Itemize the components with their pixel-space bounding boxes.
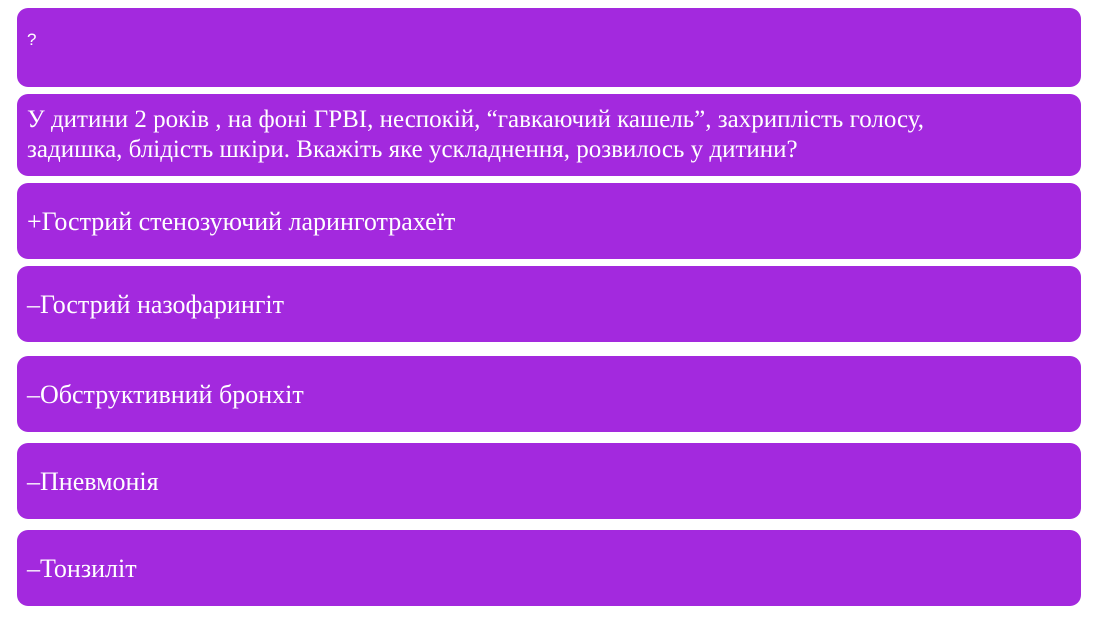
question-text: У дитини 2 років , на фоні ГРВІ, неспокі… bbox=[27, 105, 1071, 165]
answer-option-3[interactable]: –Обструктивний бронхіт bbox=[17, 356, 1081, 432]
answer-option-4-label: –Пневмонія bbox=[27, 467, 1071, 497]
prompt-marker-text: ? bbox=[27, 30, 1071, 50]
answer-option-1-label: +Гострий стенозуючий ларинготрахеїт bbox=[27, 207, 1071, 237]
answer-option-2-label: –Гострий назофарингіт bbox=[27, 290, 1071, 320]
answer-option-1[interactable]: +Гострий стенозуючий ларинготрахеїт bbox=[17, 183, 1081, 259]
answer-option-5[interactable]: –Тонзиліт bbox=[17, 530, 1081, 606]
quiz-page: ? У дитини 2 років , на фоні ГРВІ, неспо… bbox=[0, 0, 1112, 628]
answer-option-3-label: –Обструктивний бронхіт bbox=[27, 380, 1071, 410]
question-block: У дитини 2 років , на фоні ГРВІ, неспокі… bbox=[17, 94, 1081, 176]
answer-option-2[interactable]: –Гострий назофарингіт bbox=[17, 266, 1081, 342]
prompt-marker-block: ? bbox=[17, 8, 1081, 87]
answer-option-4[interactable]: –Пневмонія bbox=[17, 443, 1081, 519]
answer-option-5-label: –Тонзиліт bbox=[27, 554, 1071, 584]
